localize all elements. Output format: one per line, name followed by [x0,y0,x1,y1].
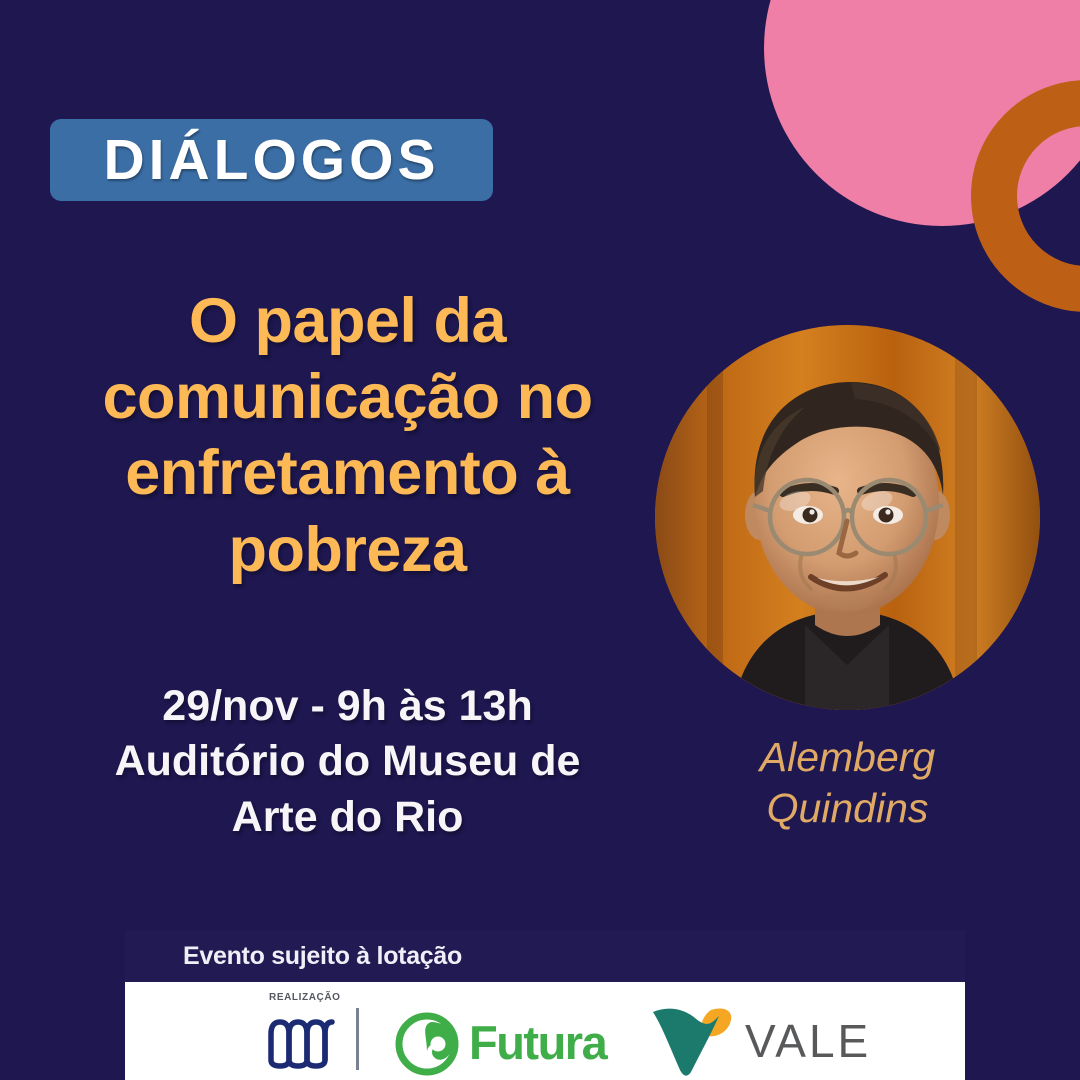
event-venue-line-2: Arte do Rio [40,790,655,845]
dialogos-badge: DIÁLOGOS [50,119,493,201]
event-details: 29/nov - 9h às 13h Auditório do Museu de… [40,679,655,845]
fundacao-roberto-marinho-logo [263,1014,341,1075]
sponsor-banner: Evento sujeito à lotação REALIZAÇÃO [125,930,965,1080]
frm-m-icon [263,1014,341,1070]
realizacao-label: REALIZAÇÃO [269,992,341,1003]
futura-wordmark: Futura [469,1015,606,1070]
speaker-first-name: Alemberg [655,732,1040,783]
speaker-last-name: Quindins [655,783,1040,834]
vale-logo: VALE [649,1004,871,1078]
sponsor-logo-panel: REALIZAÇÃO [125,982,965,1080]
logo-row: Futura VALE [125,1008,965,1080]
capacity-notice-strip: Evento sujeito à lotação [125,930,965,982]
capacity-notice-text: Evento sujeito à lotação [183,942,462,971]
speaker-portrait-image [655,325,1040,710]
speaker-portrait [655,325,1040,710]
logo-divider [356,1008,359,1070]
event-venue-line-1: Auditório do Museu de [40,734,655,789]
futura-icon [391,1006,463,1078]
dialogos-badge-label: DIÁLOGOS [103,132,439,189]
vale-wordmark: VALE [745,1014,871,1068]
futura-logo: Futura [391,1006,606,1078]
speaker-name: Alemberg Quindins [655,732,1040,834]
event-poster: DIÁLOGOS O papel da comunicação no enfre… [0,0,1080,1080]
event-datetime: 29/nov - 9h às 13h [40,679,655,734]
vale-icon [649,1004,737,1078]
page-title: O papel da comunicação no enfretamento à… [40,283,655,588]
